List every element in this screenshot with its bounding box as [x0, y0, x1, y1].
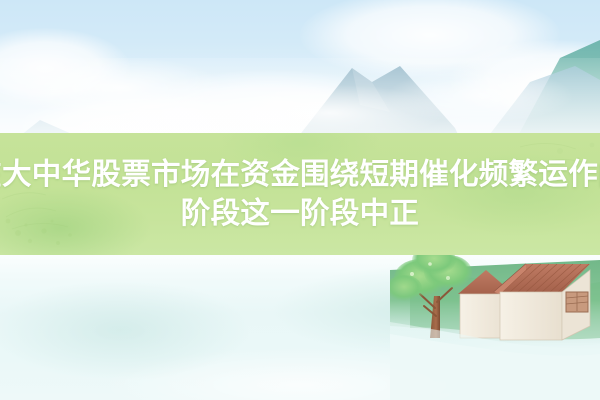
window-icon — [566, 292, 588, 312]
title-line-2: 阶段这一阶段中正 — [181, 194, 419, 233]
village-scene — [390, 230, 600, 400]
promo-banner: 在大中华股票市场在资金围绕短期催化频繁运作的 阶段这一阶段中正 — [0, 0, 600, 400]
title-line-1: 在大中华股票市场在资金围绕短期催化频繁运作的 — [0, 155, 600, 194]
banner-title: 在大中华股票市场在资金围绕短期催化频繁运作的 阶段这一阶段中正 — [0, 133, 600, 255]
